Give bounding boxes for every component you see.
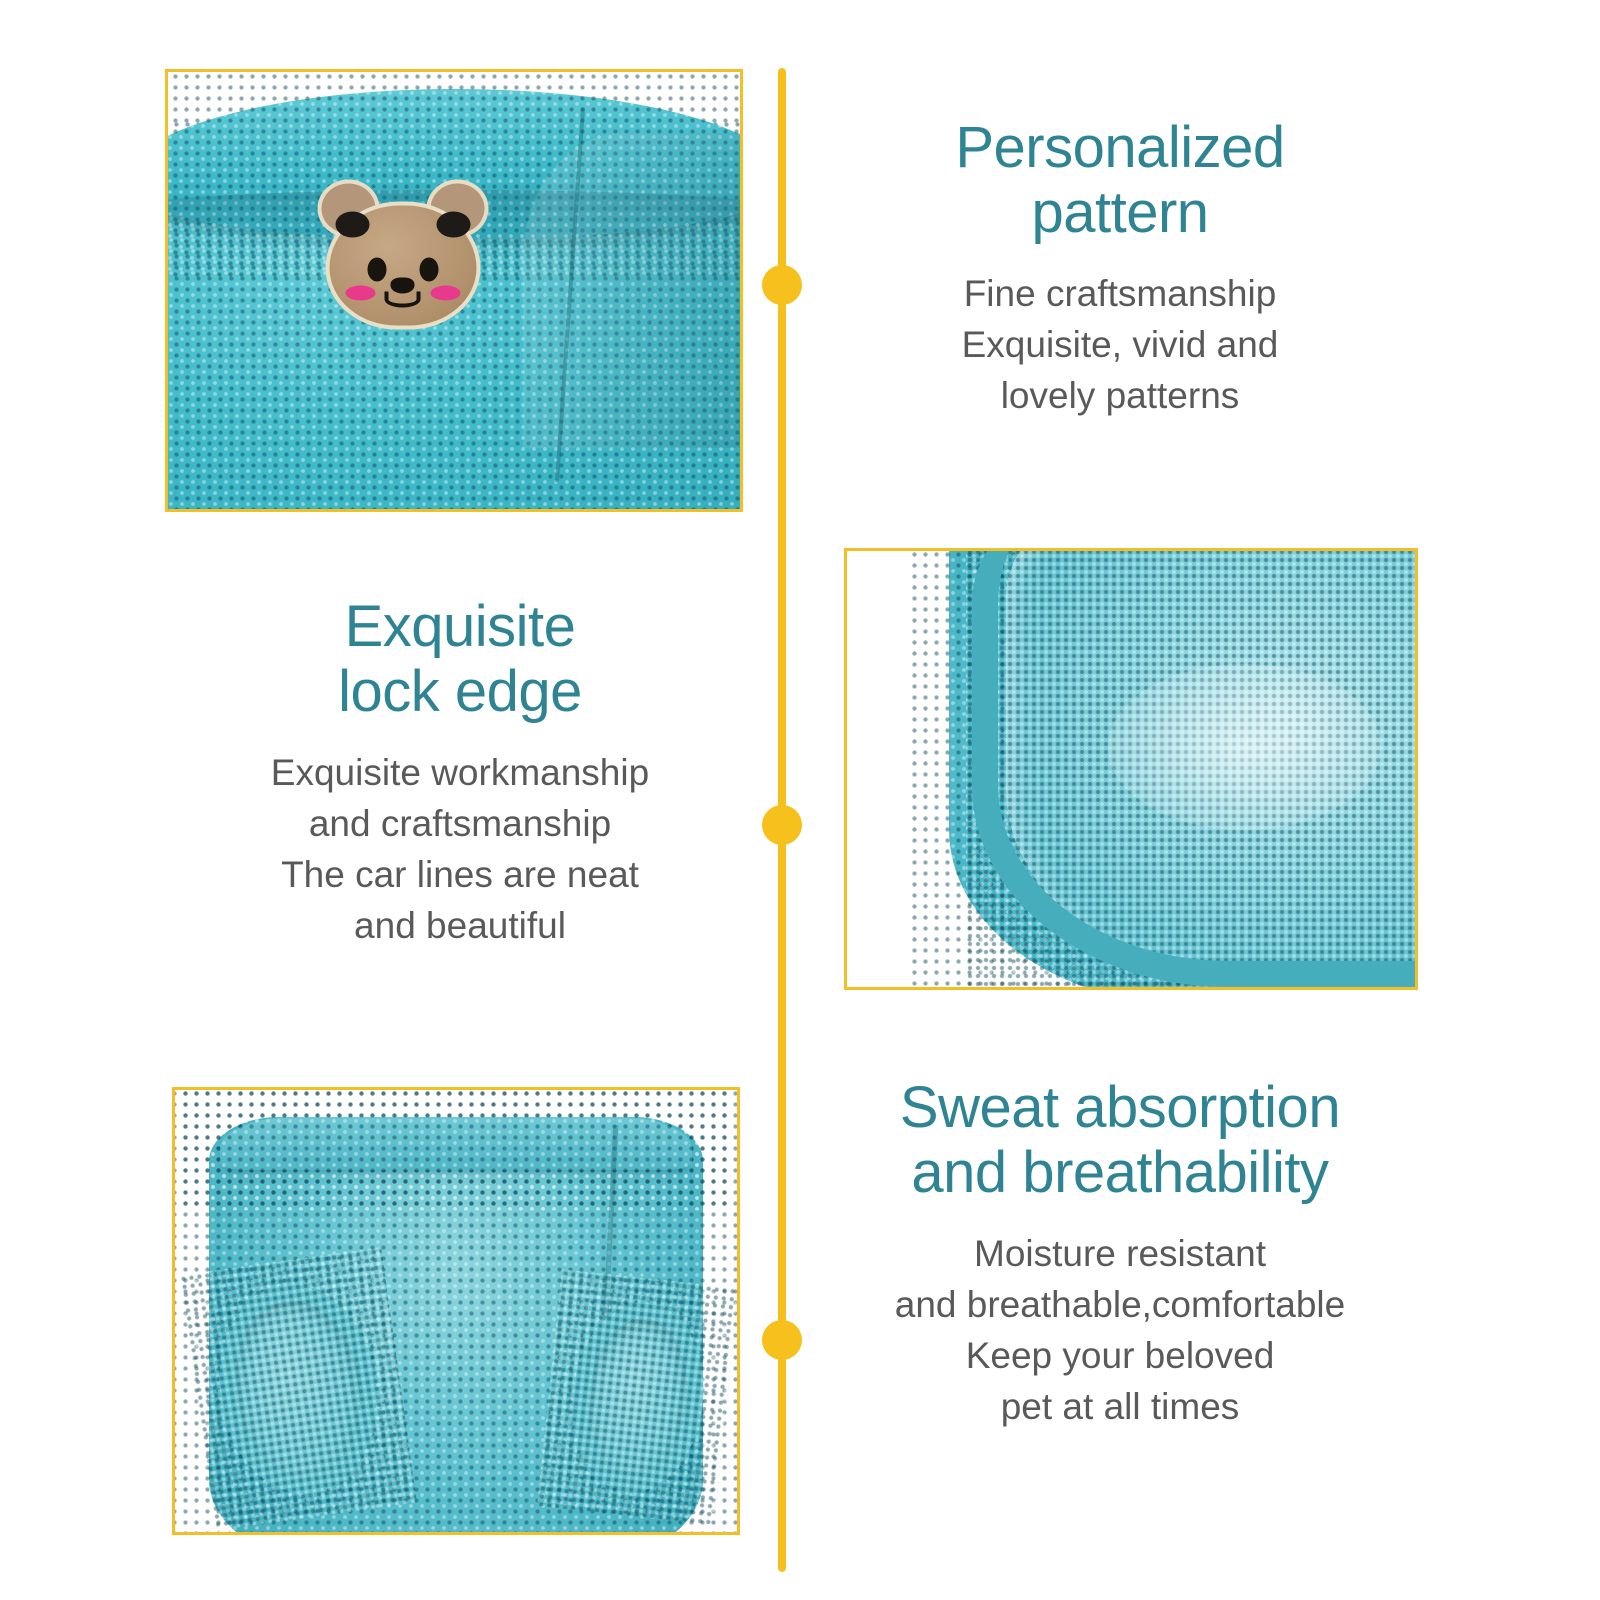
hem-lock-edge-photo <box>844 548 1418 990</box>
feature-text-personalized-pattern: Personalized pattern Fine craftsmanship … <box>820 116 1420 421</box>
bear-patch-icon <box>315 177 490 334</box>
waffle-texture <box>180 1090 732 1210</box>
bear-eye-left <box>367 257 386 281</box>
fabric-sheen <box>1108 664 1381 830</box>
feature-description: Fine craftsmanship Exquisite, vivid and … <box>820 268 1420 421</box>
waffle-texture <box>537 1270 737 1525</box>
legs-photo-content <box>175 1090 737 1532</box>
bear-mouth <box>385 291 421 307</box>
bear-eye-right <box>419 257 438 281</box>
waffle-texture <box>179 1248 417 1532</box>
product-feature-infographic: Personalized pattern Fine craftsmanship … <box>0 0 1600 1600</box>
bear-cheek-right <box>430 285 460 300</box>
feature-text-exquisite-lock-edge: Exquisite lock edge Exquisite workmanshi… <box>148 595 772 951</box>
shoulder-seam-shading <box>523 133 740 448</box>
feature-title: Personalized pattern <box>820 116 1420 246</box>
leg-openings-photo <box>172 1087 740 1535</box>
bear-ear-inner-left <box>335 211 369 237</box>
hem-photo-content <box>847 551 1415 987</box>
leg-opening-left <box>206 1275 390 1505</box>
leg-opening-right <box>564 1296 713 1499</box>
feature-description: Exquisite workmanship and craftsmanship … <box>148 747 772 951</box>
feature-title: Exquisite lock edge <box>148 595 772 725</box>
timeline-dot-3 <box>762 1320 802 1360</box>
timeline-dot-1 <box>762 265 802 305</box>
garment-waistband <box>220 1117 692 1170</box>
bear-ear-inner-right <box>436 211 470 237</box>
collar-with-bear-patch-photo <box>165 69 743 512</box>
feature-text-sweat-absorption: Sweat absorption and breathability Moist… <box>812 1076 1428 1432</box>
feature-description: Moisture resistant and breathable,comfor… <box>812 1228 1428 1432</box>
bear-cheek-left <box>345 285 375 300</box>
feature-title: Sweat absorption and breathability <box>812 1076 1428 1206</box>
collar-photo-content <box>168 72 740 509</box>
